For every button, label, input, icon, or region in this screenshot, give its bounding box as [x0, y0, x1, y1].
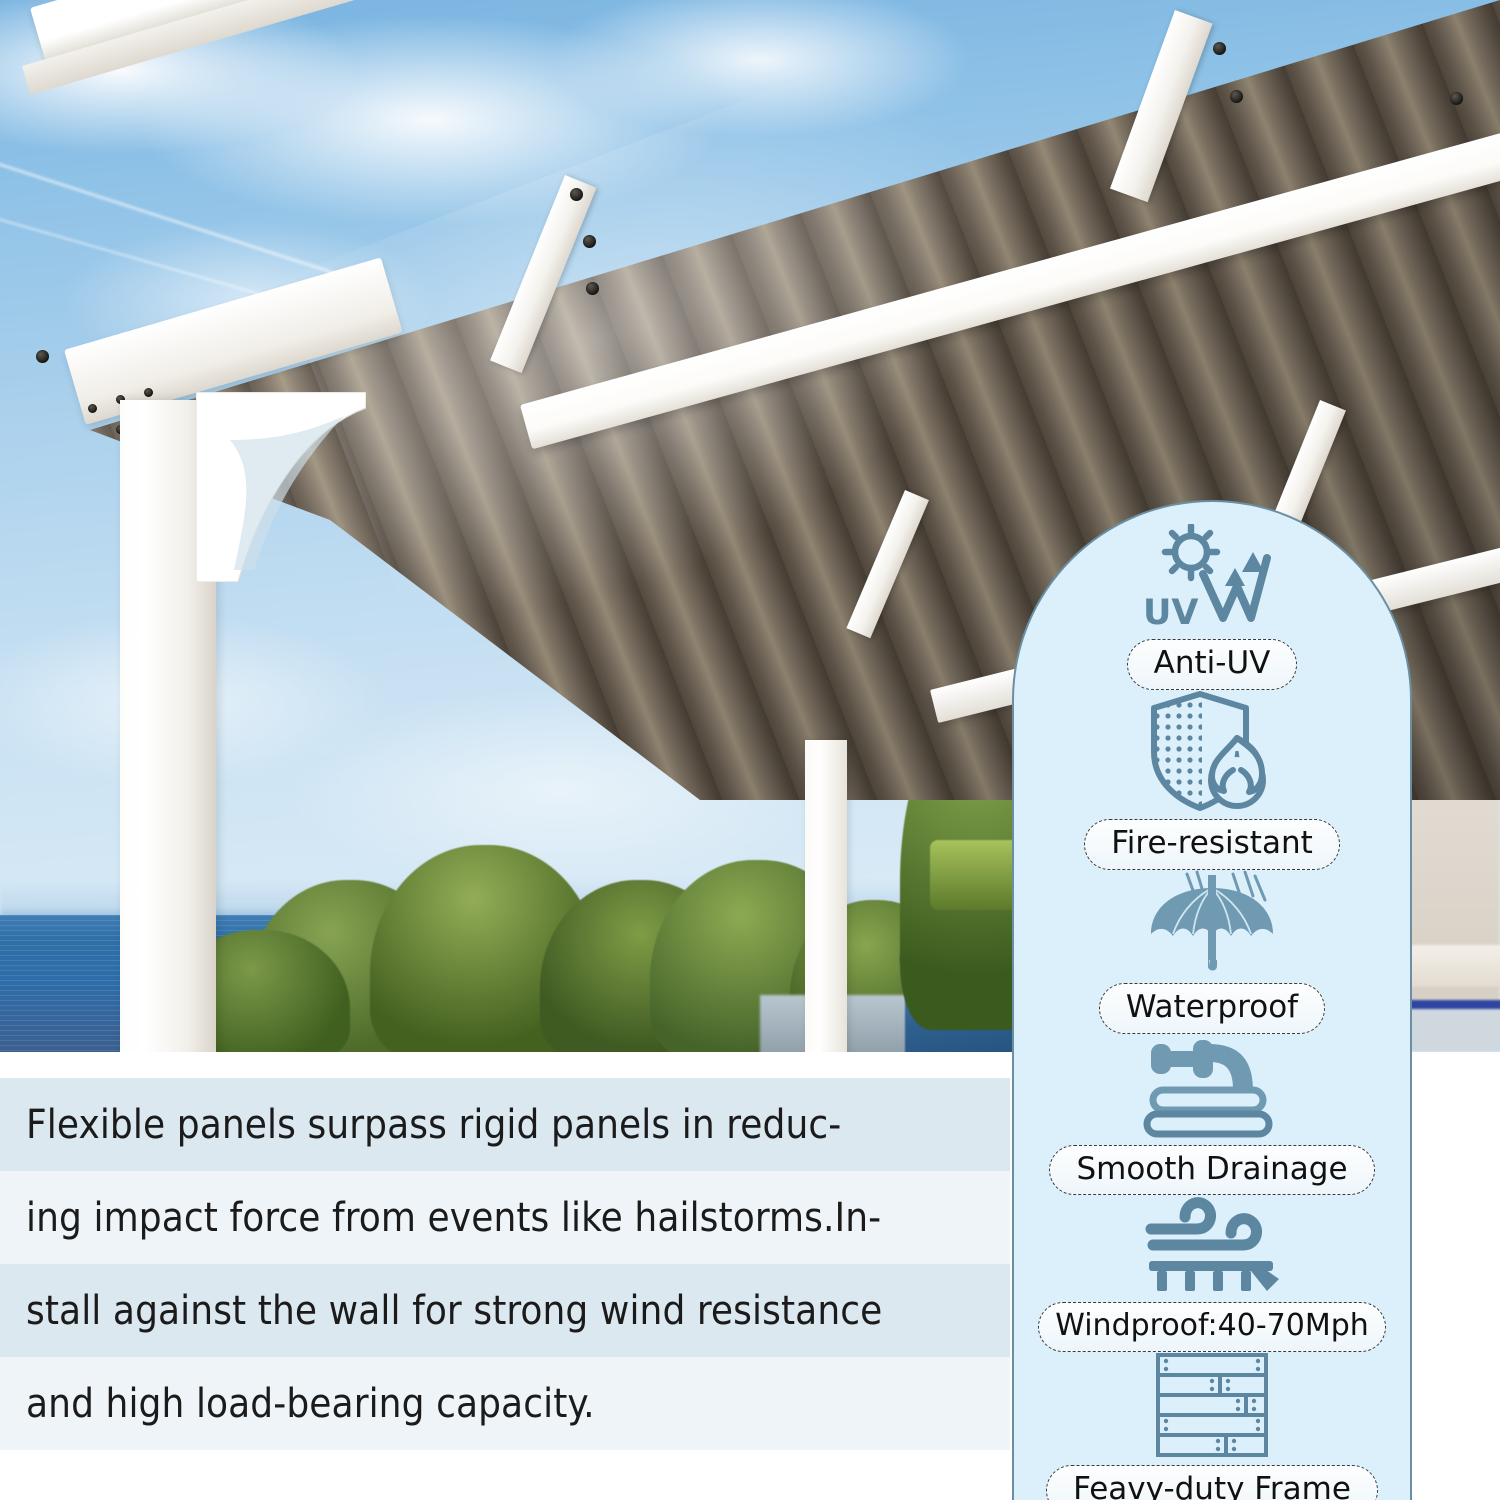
bolt — [88, 404, 97, 413]
feature-label-anti-uv: Anti-UV — [1127, 639, 1298, 690]
wind-icon — [1133, 1195, 1291, 1295]
bolt — [36, 350, 49, 363]
bolt — [1450, 92, 1463, 105]
feature-label-heavy-duty-frame: Feavy-duty Frame — [1046, 1465, 1378, 1500]
frame-stack-icon — [1152, 1352, 1272, 1458]
caption-line: Flexible panels surpass rigid panels in … — [0, 1078, 1010, 1171]
feature-heavy-duty-frame: Feavy-duty Frame — [1014, 1352, 1410, 1500]
feature-label-windproof: Windproof:40-70Mph — [1038, 1302, 1386, 1352]
garden-hose-icon — [1137, 1034, 1287, 1138]
umbrella-rain-icon — [1137, 870, 1287, 976]
bolt — [586, 282, 599, 295]
feature-label-waterproof: Waterproof — [1099, 983, 1325, 1034]
corbel-bracket — [196, 392, 366, 582]
bolt — [1230, 90, 1243, 103]
bolt — [583, 235, 596, 248]
caption-spacer — [0, 1052, 1010, 1078]
anti-uv-icon: UV — [1141, 524, 1283, 632]
feature-fire-resistant: Fire-resistant — [1014, 690, 1410, 870]
trimmed-hedge — [930, 840, 1025, 910]
bolt — [144, 388, 153, 397]
bolt — [1213, 42, 1226, 55]
caption-line: stall against the wall for strong wind r… — [0, 1264, 1010, 1357]
feature-smooth-drainage: Smooth Drainage — [1014, 1034, 1410, 1196]
caption-block: Flexible panels surpass rigid panels in … — [0, 1052, 1010, 1500]
feature-label-fire-resistant: Fire-resistant — [1084, 819, 1340, 870]
uv-label: UV — [1143, 593, 1199, 632]
feature-panel: UV Anti-UV — [1012, 500, 1412, 1500]
product-infographic: Flexible panels surpass rigid panels in … — [0, 0, 1500, 1500]
support-column-far — [805, 740, 847, 1052]
feature-waterproof: Waterproof — [1014, 870, 1410, 1034]
caption-line: and high load-bearing capacity. — [0, 1357, 1010, 1450]
fire-shield-icon — [1142, 690, 1282, 812]
feature-windproof: Windproof:40-70Mph — [1014, 1195, 1410, 1352]
bolt — [570, 188, 583, 201]
caption-line: ing impact force from events like hailst… — [0, 1171, 1010, 1264]
feature-label-smooth-drainage: Smooth Drainage — [1049, 1145, 1374, 1196]
